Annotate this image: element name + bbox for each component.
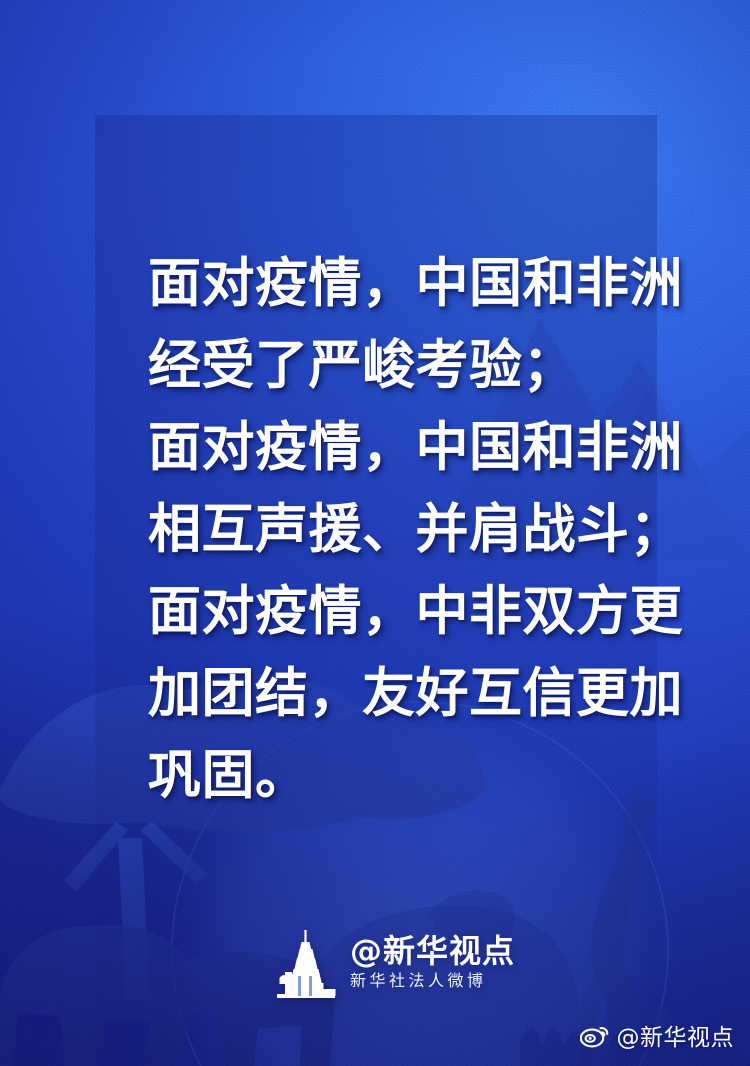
headline-line-5: 面对疫情，中非双方更 [148, 571, 648, 653]
headline-line-6: 加团结，友好互信更加 [148, 653, 648, 735]
headline-line-3: 面对疫情，中国和非洲 [148, 407, 648, 489]
poster-canvas: 面对疫情，中国和非洲 经受了严峻考验； 面对疫情，中国和非洲 相互声援、并肩战斗… [0, 0, 750, 1066]
xinhua-logo-words: @新华视点 新华社法人微博 [350, 935, 515, 993]
weibo-eye-icon [580, 1022, 610, 1048]
xinhua-tower-logo-icon [276, 928, 338, 1000]
headline-line-7: 巩固。 [148, 735, 648, 817]
headline-text-block: 面对疫情，中国和非洲 经受了严峻考验； 面对疫情，中国和非洲 相互声援、并肩战斗… [148, 243, 648, 817]
xinhua-logo-title: @新华视点 [350, 935, 515, 969]
headline-line-4: 相互声援、并肩战斗； [148, 489, 648, 571]
xinhua-logo-subtitle: 新华社法人微博 [350, 969, 515, 993]
weibo-badge: @新华视点 [580, 1018, 735, 1052]
headline-line-1: 面对疫情，中国和非洲 [148, 243, 648, 325]
headline-line-2: 经受了严峻考验； [148, 325, 648, 407]
xinhua-logo: @新华视点 新华社法人微博 [276, 928, 515, 1000]
weibo-badge-label: @新华视点 [617, 1018, 735, 1052]
